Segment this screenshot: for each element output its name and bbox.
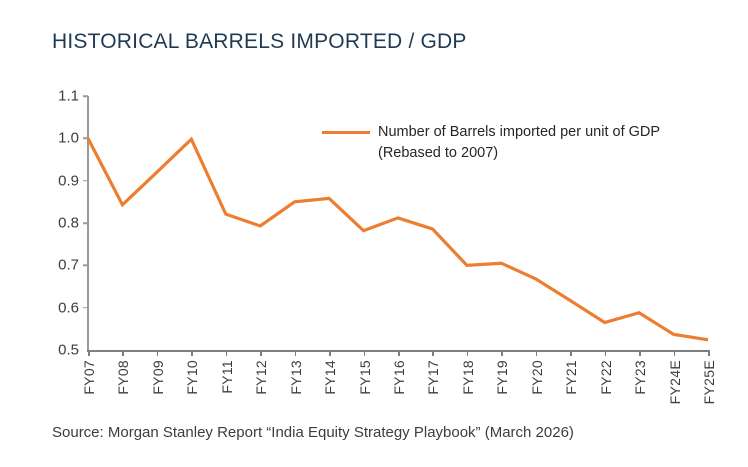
x-axis-tick-label: FY16 — [391, 360, 407, 395]
legend-swatch-icon — [322, 131, 370, 134]
x-axis-tick-mark — [398, 350, 400, 356]
y-axis-tick-mark — [83, 307, 88, 309]
x-axis-tick-mark — [536, 350, 538, 356]
x-axis-tick-mark — [605, 350, 607, 356]
x-axis-tick-mark — [329, 350, 331, 356]
x-axis-tick-mark — [467, 350, 469, 356]
x-axis-tick-label: FY11 — [219, 360, 235, 394]
x-axis-tick-mark — [295, 350, 297, 356]
x-axis-tick-mark — [639, 350, 641, 356]
y-axis-tick-label: 0.5 — [58, 342, 88, 359]
x-axis-tick-label: FY25E — [701, 360, 717, 404]
x-axis-tick-mark — [708, 350, 710, 356]
source-note: Source: Morgan Stanley Report “India Equ… — [52, 424, 574, 441]
x-axis-tick-label: FY12 — [253, 360, 269, 395]
x-axis-tick-label: FY10 — [184, 360, 200, 395]
page-title: HISTORICAL BARRELS IMPORTED / GDP — [52, 30, 467, 54]
x-axis-tick-mark — [226, 350, 228, 356]
x-axis-tick-label: FY08 — [115, 360, 131, 395]
x-axis-tick-label: FY15 — [357, 360, 373, 395]
series-line-barrels-per-gdp — [88, 138, 708, 340]
y-axis-tick-mark — [83, 180, 88, 182]
x-axis-tick-mark — [501, 350, 503, 356]
x-axis-tick-label: FY21 — [563, 360, 579, 395]
x-axis-tick-label: FY19 — [494, 360, 510, 395]
x-axis-tick-mark — [191, 350, 193, 356]
legend: Number of Barrels imported per unit of G… — [322, 122, 708, 164]
x-axis-tick-label: FY13 — [288, 360, 304, 395]
x-axis-tick-mark — [432, 350, 434, 356]
x-axis-tick-mark — [157, 350, 159, 356]
x-axis-tick-label: FY23 — [632, 360, 648, 395]
y-axis-tick-mark — [83, 222, 88, 224]
x-axis-tick-label: FY07 — [81, 360, 97, 395]
x-axis-tick-label: FY20 — [529, 360, 545, 395]
x-axis-tick-mark — [364, 350, 366, 356]
chart-page: HISTORICAL BARRELS IMPORTED / GDP 1.11.0… — [0, 0, 748, 467]
y-axis-tick-mark — [83, 95, 88, 97]
x-axis-tick-label: FY14 — [322, 360, 338, 395]
x-axis-tick-label: FY24E — [667, 360, 683, 404]
x-axis-tick-label: FY18 — [460, 360, 476, 395]
x-axis-tick-label: FY17 — [425, 360, 441, 395]
x-axis-tick-mark — [570, 350, 572, 356]
legend-label: Number of Barrels imported per unit of G… — [378, 122, 708, 164]
y-axis-tick-mark — [83, 265, 88, 267]
y-axis-tick-mark — [83, 138, 88, 140]
x-axis-tick-label: FY09 — [150, 360, 166, 395]
x-axis-tick-mark — [674, 350, 676, 356]
x-axis-tick-mark — [260, 350, 262, 356]
x-axis-tick-mark — [122, 350, 124, 356]
x-axis-tick-mark — [88, 350, 90, 356]
x-axis-tick-label: FY22 — [598, 360, 614, 395]
